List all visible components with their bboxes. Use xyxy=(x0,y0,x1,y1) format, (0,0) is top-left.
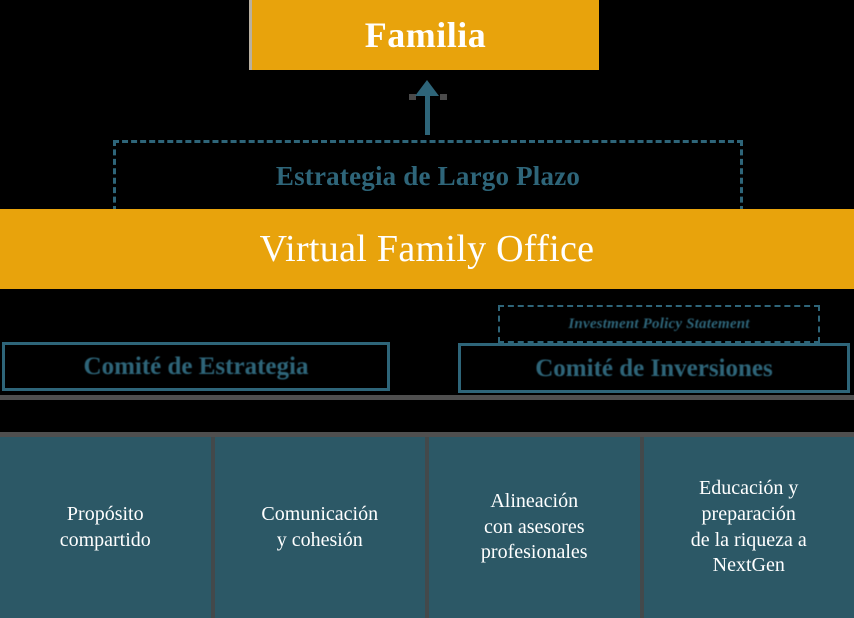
investment-policy-statement-box[interactable]: Investment Policy Statement xyxy=(498,305,820,343)
diagram-canvas: Familia Estrategia de Largo Plazo Virtua… xyxy=(0,0,854,618)
pillar-label: Comunicación y cohesión xyxy=(253,502,386,553)
comite-de-estrategia-label: Comité de Estrategia xyxy=(84,354,309,379)
arrow-up-icon xyxy=(409,80,447,135)
pillar-comunicacion-y-cohesion[interactable]: Comunicación y cohesión xyxy=(211,437,426,618)
pillar-educacion-nextgen[interactable]: Educación y preparación de la riqueza a … xyxy=(640,437,854,618)
comite-de-inversiones-box[interactable]: Comité de Inversiones xyxy=(458,343,850,393)
arrow-wing-right xyxy=(440,94,447,100)
arrow-shaft xyxy=(425,92,430,135)
virtual-family-office-banner: Virtual Family Office xyxy=(0,209,854,289)
pillar-label: Propósito compartido xyxy=(52,502,159,553)
pillar-row: Propósito compartido Comunicación y cohe… xyxy=(0,437,854,618)
pillar-label: Educación y preparación de la riqueza a … xyxy=(683,476,815,578)
comite-de-estrategia-box[interactable]: Comité de Estrategia xyxy=(2,342,390,391)
pillar-alineacion-con-asesores[interactable]: Alineación con asesores profesionales xyxy=(425,437,640,618)
familia-label: Familia xyxy=(365,17,486,53)
separator-band-upper xyxy=(0,395,854,400)
familia-box[interactable]: Familia xyxy=(249,0,599,70)
estrategia-largo-plazo-label: Estrategia de Largo Plazo xyxy=(276,163,580,190)
pillar-proposito-compartido[interactable]: Propósito compartido xyxy=(0,437,211,618)
comite-de-inversiones-label: Comité de Inversiones xyxy=(535,356,772,381)
investment-policy-statement-label: Investment Policy Statement xyxy=(568,317,749,332)
virtual-family-office-label: Virtual Family Office xyxy=(260,230,595,268)
pillar-label: Alineación con asesores profesionales xyxy=(473,489,596,566)
estrategia-largo-plazo-box[interactable]: Estrategia de Largo Plazo xyxy=(113,140,743,212)
